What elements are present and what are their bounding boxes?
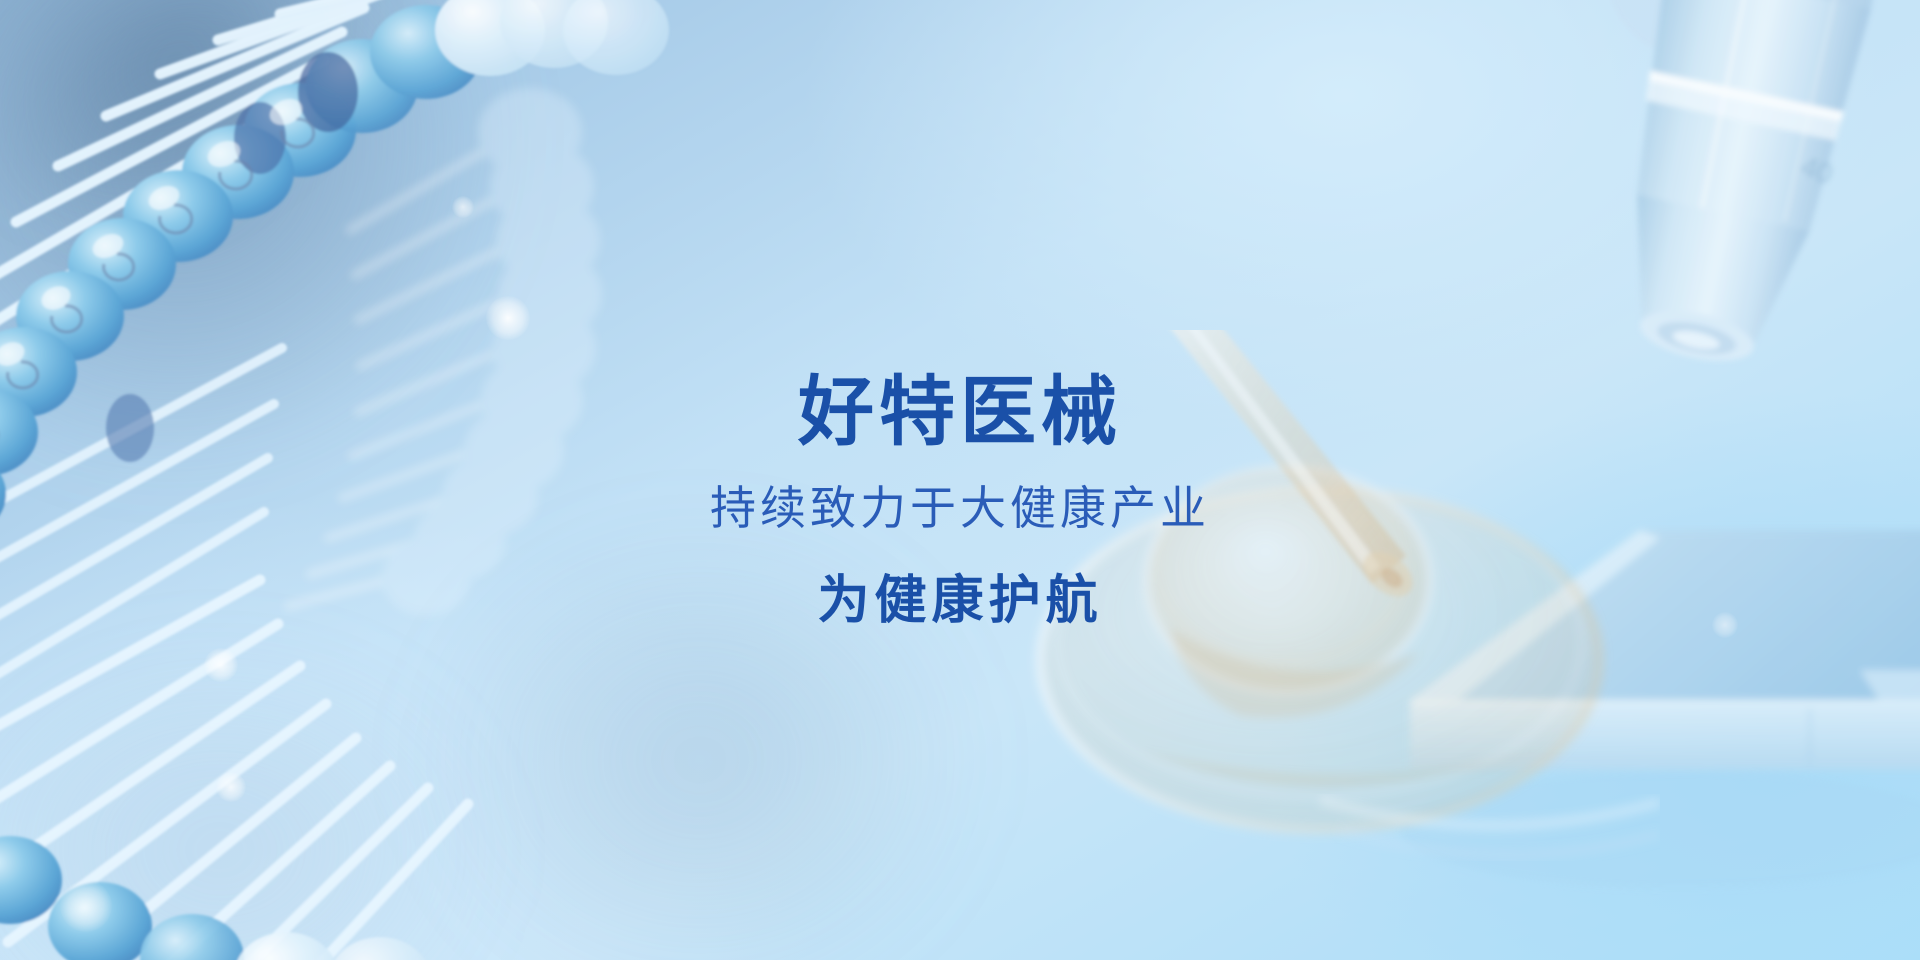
banner-tagline: 为健康护航 [817, 575, 1102, 627]
page-title: 好特医械 [798, 375, 1122, 451]
banner-subtitle: 持续致力于大健康产业 [710, 485, 1210, 531]
banner-copy: 好特医械 持续致力于大健康产业 为健康护航 [0, 0, 1920, 960]
hero-banner: 40 [0, 0, 1920, 960]
